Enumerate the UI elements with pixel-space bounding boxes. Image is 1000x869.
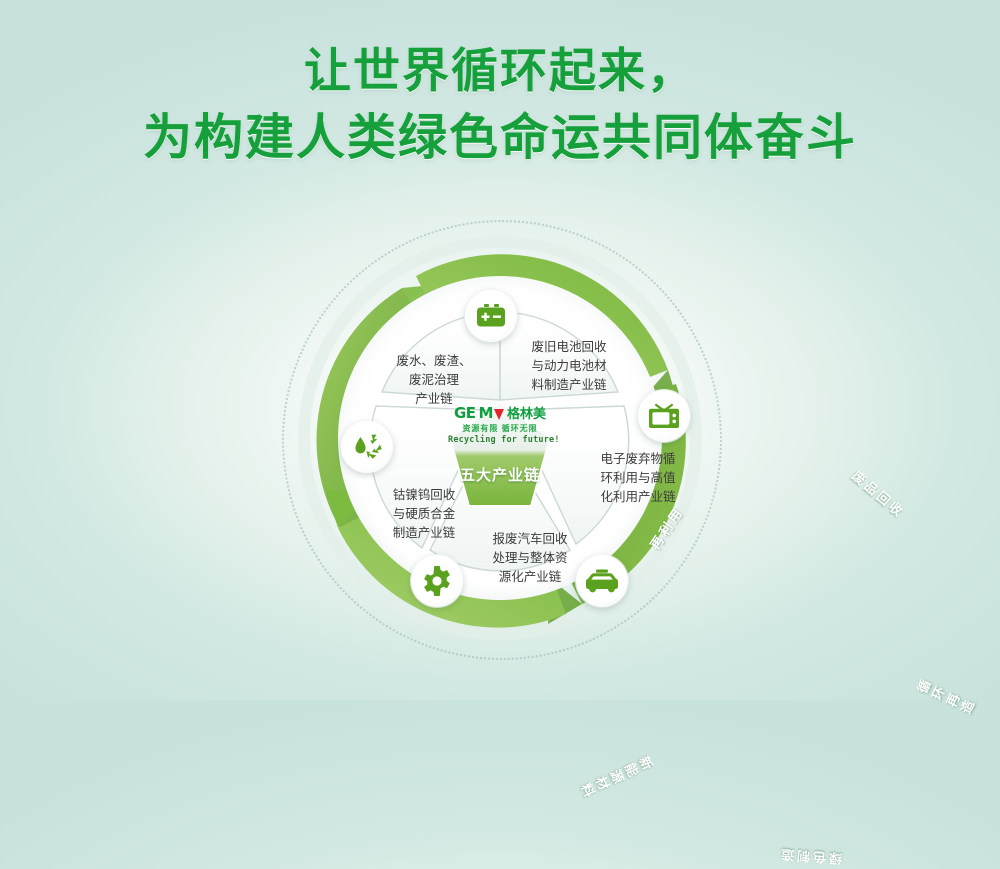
ring-label-newmat: 新能源材料 <box>575 750 656 801</box>
ring-label-scrap: 废品回收 <box>848 466 909 522</box>
gem-slogan-cn: 资源有限 循环无限 <box>448 423 552 434</box>
gear-icon <box>411 555 463 607</box>
gem-logo-row: GE M 格林美 <box>448 406 552 421</box>
car-icon <box>576 555 628 607</box>
center-logo-badge: GE M 格林美 资源有限 循环无限 Recycling for future!… <box>448 400 552 510</box>
chain-label-ewaste: 电子废弃物循 环利用与高值 化利用产业链 <box>578 450 698 507</box>
center-subtitle: 五大产业链 <box>448 464 552 485</box>
title-line-1: 让世界循环起来， <box>0 42 1000 99</box>
gem-latin-tail: M <box>479 406 493 421</box>
gem-chinese-name: 格林美 <box>507 407 546 420</box>
battery-icon <box>465 290 517 342</box>
title-line-2: 为构建人类绿色命运共同体奋斗 <box>0 109 1000 169</box>
gem-red-mark <box>494 409 504 420</box>
ring-label-remake: 循环再造 <box>913 676 979 720</box>
tv-icon <box>638 390 690 442</box>
chain-label-battery: 废旧电池回收 与动力电池材 料制造产业链 <box>503 338 635 395</box>
ring-label-green: 绿色制造 <box>777 846 842 869</box>
page-title: 让世界循环起来， 为构建人类绿色命运共同体奋斗 <box>0 42 1000 169</box>
chain-label-auto: 报废汽车回收 处理与整体资 源化产业链 <box>468 530 592 587</box>
gem-latin-text: GE <box>454 406 476 421</box>
gem-slogan-en: Recycling for future! <box>448 435 552 445</box>
water-recycle-icon <box>341 421 393 473</box>
gem-logo: GE M 格林美 资源有限 循环无限 Recycling for future! <box>448 406 552 445</box>
